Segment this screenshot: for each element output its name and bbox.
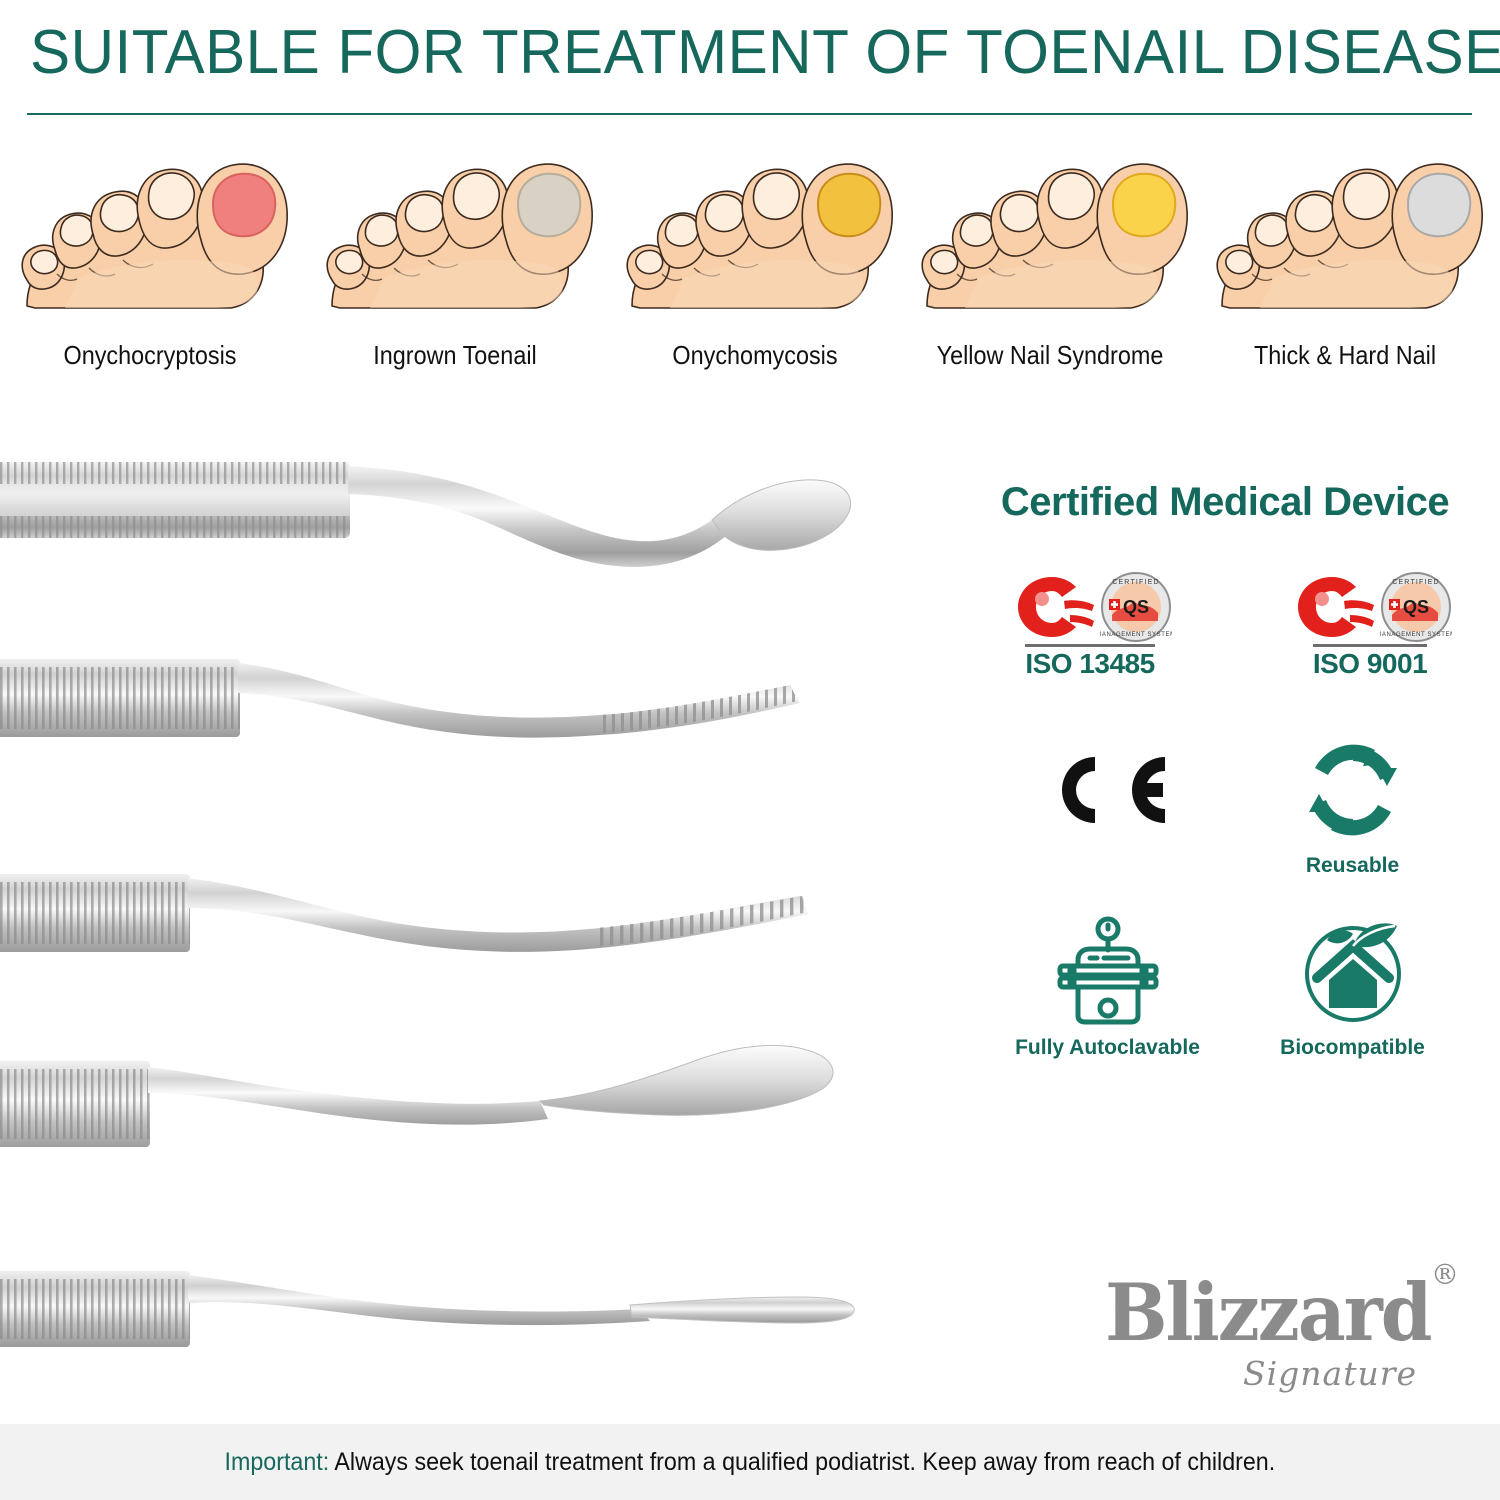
disease-label: Onychomycosis: [625, 340, 886, 371]
page-title: SUITABLE FOR TREATMENT OF TOENAIL DISEAS…: [30, 18, 1437, 88]
instrument-4: [0, 1255, 880, 1365]
brand-name: Blizzard: [1105, 1268, 1431, 1359]
disease-card-3: Yellow Nail Syndrome: [905, 128, 1195, 393]
disease-card-2: Onychomycosis: [610, 128, 900, 393]
iso-badge-row: QS CERTIFIED MANAGEMENT SYSTEM ISO 13485: [995, 568, 1465, 680]
foot-toes-illustration: [1200, 128, 1490, 328]
iso-label: ISO 9001: [1313, 644, 1427, 680]
instrument-1: [0, 645, 880, 755]
header-divider: [27, 113, 1472, 115]
foot-toes-illustration: [310, 128, 600, 328]
disease-label: Yellow Nail Syndrome: [920, 340, 1181, 371]
svg-text:MANAGEMENT SYSTEM: MANAGEMENT SYSTEM: [1380, 632, 1452, 638]
instrument-3: [0, 1035, 880, 1175]
qs-red-logo-icon: [1288, 571, 1378, 643]
infographic-page: SUITABLE FOR TREATMENT OF TOENAIL DISEAS…: [0, 0, 1500, 1500]
svg-text:CERTIFIED: CERTIFIED: [1392, 579, 1440, 586]
symbol-biocompatible: Biocompatible: [1230, 912, 1475, 1060]
ce-mark-icon: [985, 730, 1230, 850]
iso-marks: QS CERTIFIED MANAGEMENT SYSTEM: [995, 568, 1185, 646]
footer-emphasis: Important:: [225, 1448, 330, 1476]
symbol-grid: Reusable: [985, 730, 1475, 1060]
autoclave-icon: [985, 912, 1230, 1032]
iso-badge-9001: QS CERTIFIED MANAGEMENT SYSTEM ISO 9001: [1275, 568, 1465, 680]
svg-text:MANAGEMENT SYSTEM: MANAGEMENT SYSTEM: [1100, 632, 1172, 638]
symbol-autoclavable: Fully Autoclavable: [985, 912, 1230, 1060]
disease-label: Onychocryptosis: [20, 340, 281, 371]
recycle-arrows-icon: [1230, 730, 1475, 850]
certification-heading: Certified Medical Device: [975, 480, 1475, 525]
footer-disclaimer-bar: Important: Always seek toenail treatment…: [0, 1424, 1500, 1500]
svg-text:QS: QS: [1403, 597, 1429, 617]
symbol-row-2: Fully Autoclavable Biocompatible: [985, 912, 1475, 1060]
certification-section: Certified Medical Device: [965, 480, 1485, 525]
symbol-label: Fully Autoclavable: [985, 1036, 1230, 1060]
symbol-label: Biocompatible: [1230, 1036, 1475, 1060]
symbol-label: Reusable: [1230, 854, 1475, 878]
iso-marks: QS CERTIFIED MANAGEMENT SYSTEM: [1275, 568, 1465, 646]
foot-toes-illustration: [610, 128, 900, 328]
leaf-house-icon: [1230, 912, 1475, 1032]
disease-label: Ingrown Toenail: [325, 340, 586, 371]
foot-toes-illustration: [905, 128, 1195, 328]
svg-text:CERTIFIED: CERTIFIED: [1112, 579, 1160, 586]
disease-gallery: Onychocryptosis: [0, 128, 1500, 393]
symbol-ce: [985, 730, 1230, 878]
instrument-2: [0, 860, 880, 970]
qs-certified-seal-icon: QS CERTIFIED MANAGEMENT SYSTEM: [1380, 571, 1452, 643]
brand-logo: Blizzard ® Signature: [1095, 1258, 1465, 1408]
instrument-0: [0, 440, 880, 585]
iso-label: ISO 13485: [1025, 644, 1154, 680]
svg-text:QS: QS: [1123, 597, 1149, 617]
disease-card-1: Ingrown Toenail: [310, 128, 600, 393]
qs-certified-seal-icon: QS CERTIFIED MANAGEMENT SYSTEM: [1100, 571, 1172, 643]
foot-toes-illustration: [1200, 128, 1490, 328]
symbol-row-1: Reusable: [985, 730, 1475, 878]
brand-tagline: Signature: [1243, 1354, 1417, 1393]
footer-body: Always seek toenail treatment from a qua…: [329, 1448, 1275, 1476]
foot-toes-illustration: [5, 128, 295, 328]
footer-text: Important: Always seek toenail treatment…: [225, 1448, 1276, 1477]
disease-label: Thick & Hard Nail: [1215, 340, 1476, 371]
foot-toes-illustration: [310, 128, 600, 328]
disease-card-0: Onychocryptosis: [5, 128, 295, 393]
symbol-reusable: Reusable: [1230, 730, 1475, 878]
iso-badge-13485: QS CERTIFIED MANAGEMENT SYSTEM ISO 13485: [995, 568, 1185, 680]
foot-toes-illustration: [905, 128, 1195, 328]
qs-red-logo-icon: [1008, 571, 1098, 643]
foot-toes-illustration: [5, 128, 295, 328]
disease-card-4: Thick & Hard Nail: [1200, 128, 1490, 393]
registered-mark: ®: [1431, 1258, 1459, 1291]
foot-toes-illustration: [610, 128, 900, 328]
